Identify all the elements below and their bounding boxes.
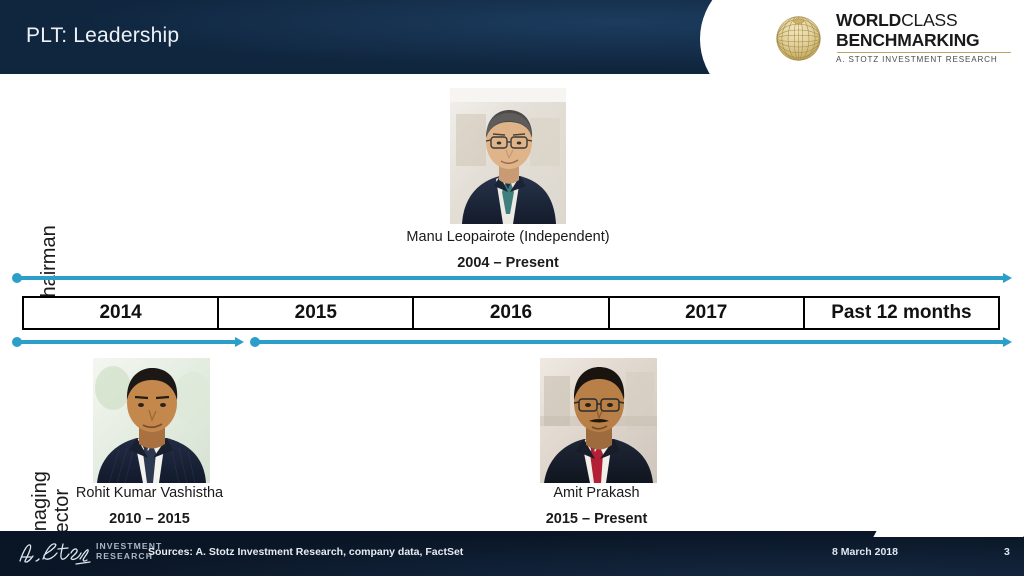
chairman-timeline-arrow [12,273,1012,283]
arrow-shaft [17,276,1003,279]
md2-caption: Amit Prakash 2015 – Present [444,485,749,527]
footer-date: 8 March 2018 [832,546,898,558]
timeline-cell-2017: 2017 [610,298,805,328]
brand-line-1: WORLDCLASS [836,12,1011,30]
md2-name: Amit Prakash [444,485,749,501]
page-title: PLT: Leadership [26,24,179,48]
md2-timeline-arrow [250,337,1012,347]
arrow-head-icon [1003,337,1012,347]
md1-tenure: 2010 – 2015 [0,511,302,527]
brand-tagline: A. STOTZ INVESTMENT RESEARCH [836,56,1011,64]
arrow-head-icon [1003,273,1012,283]
md2-photo [540,358,657,483]
timeline-cell-past-12-months: Past 12 months [805,298,998,328]
md1-photo [93,358,210,483]
arrow-shaft [255,340,1003,343]
arrow-head-icon [235,337,244,347]
timeline-cell-2015: 2015 [219,298,414,328]
slide: PLT: Leadership [0,0,1024,576]
globe-wireframe-icon [770,10,827,67]
md1-caption: Rohit Kumar Vashistha 2010 – 2015 [0,485,302,527]
md1-timeline-arrow [12,337,244,347]
brand-word-class: CLASS [901,10,957,30]
brand-word-world: WORLD [836,10,901,30]
chairman-photo [450,88,566,224]
slide-header: PLT: Leadership [0,0,1024,74]
brand-rule [837,52,1011,53]
footer-notch [873,531,1024,537]
footer-sources: Sources: A. Stotz Investment Research, c… [148,546,463,558]
a-stotz-signature-icon [14,539,92,567]
arrow-shaft [17,340,235,343]
footer-page-number: 3 [1004,546,1010,558]
chairman-name: Manu Leopairote (Independent) [333,229,683,245]
timeline-cell-2016: 2016 [414,298,609,328]
md2-tenure: 2015 – Present [444,511,749,527]
slide-footer: INVESTMENT RESEARCH Sources: A. Stotz In… [0,531,1024,576]
brand-logo: WORLDCLASS BENCHMARKING A. STOTZ INVESTM… [770,7,1010,69]
brand-logo-text: WORLDCLASS BENCHMARKING A. STOTZ INVESTM… [836,12,1011,64]
md1-name: Rohit Kumar Vashistha [0,485,302,501]
chairman-caption: Manu Leopairote (Independent) 2004 – Pre… [333,229,683,271]
brand-line-2: BENCHMARKING [836,32,1011,50]
chairman-tenure: 2004 – Present [333,255,683,271]
timeline-table: 2014 2015 2016 2017 Past 12 months [22,296,1000,330]
timeline-cell-2014: 2014 [24,298,219,328]
